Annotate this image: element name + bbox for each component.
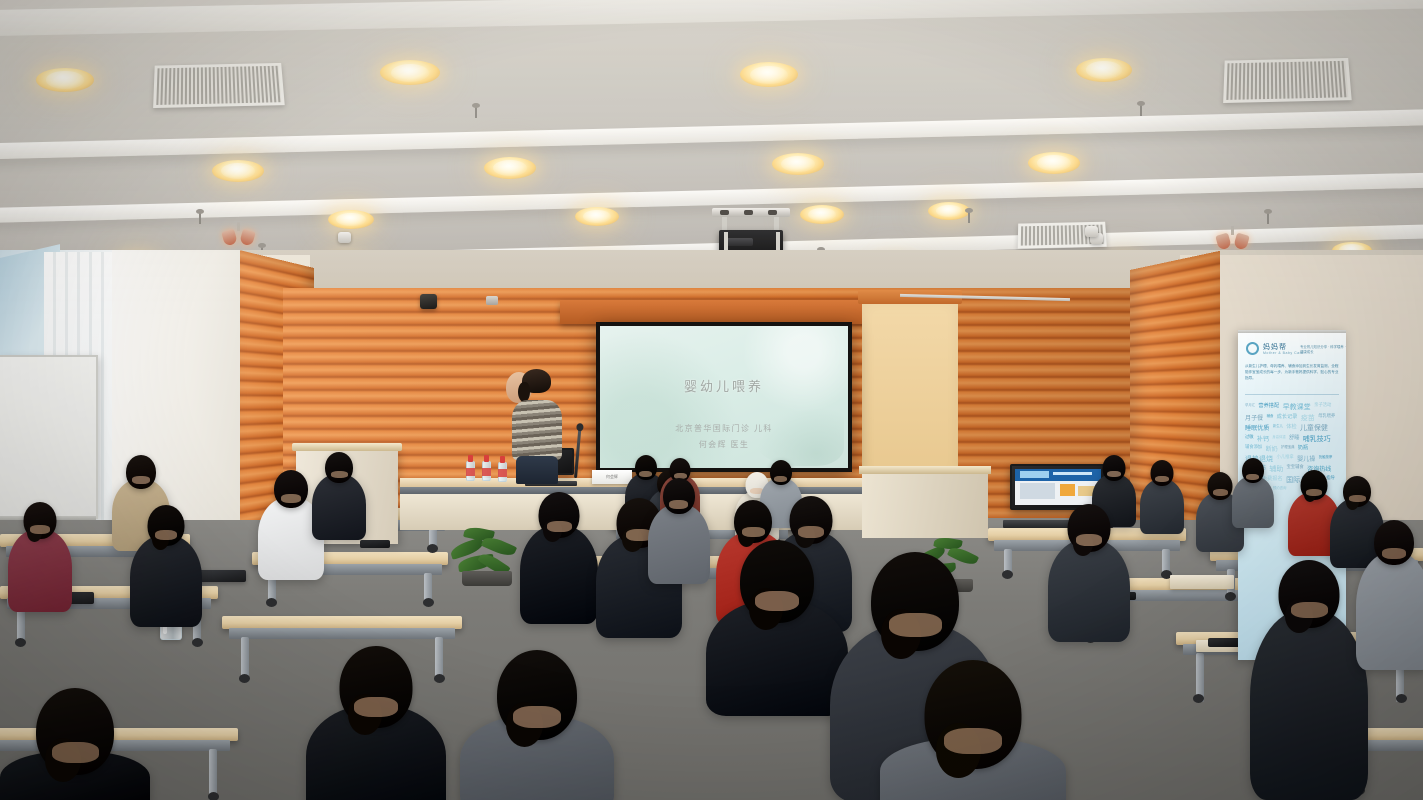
slide-title: 婴幼儿喂养 — [600, 376, 848, 395]
banner-word: 补钙 — [1257, 434, 1269, 443]
person-neck — [155, 530, 177, 540]
banner-word: 舒睡 — [1289, 434, 1299, 441]
desk-caster — [1002, 570, 1013, 579]
desk-caster — [266, 598, 277, 607]
rolled-blind-panel — [862, 300, 958, 478]
screen-valance — [560, 300, 890, 324]
downlight-icon — [1076, 58, 1132, 82]
notebook[interactable] — [1170, 575, 1234, 589]
person-neck — [132, 476, 150, 484]
presenter-torso — [512, 400, 562, 460]
banner-top-bar — [1238, 330, 1346, 333]
presenter-skirt — [516, 456, 558, 484]
person-neck — [774, 476, 787, 482]
audience-member — [1356, 520, 1423, 670]
banner-word: 预约咨询 — [1273, 485, 1287, 490]
person-body — [648, 504, 710, 584]
person-neck — [354, 697, 398, 717]
person-neck — [1246, 474, 1259, 480]
projector-mount-plate — [712, 208, 790, 217]
audience-member — [1048, 504, 1130, 642]
person-neck — [281, 494, 301, 503]
person-body — [1048, 539, 1130, 642]
whiteboard[interactable] — [0, 355, 98, 519]
banner-word: 早教课堂 — [1283, 402, 1311, 412]
banner-word: 过敏 — [1245, 434, 1254, 440]
person-neck — [889, 613, 942, 637]
downlight-icon — [1028, 152, 1080, 174]
presenter — [506, 372, 568, 482]
side-table-right — [862, 472, 988, 538]
air-vent-icon — [1223, 58, 1352, 103]
desk-modesty-panel — [229, 628, 455, 639]
projection-screen-surface: 婴幼儿喂养 北京普华国际门诊 儿科 何会辉 医生 — [600, 326, 848, 468]
person-body — [8, 529, 72, 612]
track-spotlight-icon — [222, 222, 256, 246]
downlight-icon — [380, 60, 440, 85]
water-bottle[interactable] — [466, 455, 475, 481]
banner-word: 身高体重 — [1272, 434, 1286, 439]
banner-word: 婴儿操 — [1297, 454, 1315, 463]
ceiling-camera-icon — [1085, 226, 1098, 237]
person-neck — [52, 742, 99, 763]
banner-word: 小儿推拿 — [1277, 454, 1294, 460]
person-neck — [30, 525, 50, 534]
person-neck — [1349, 495, 1366, 502]
banner-tagline: 专业育儿知识分享 · 科学喂养 · 健康成长 — [1300, 344, 1346, 354]
banner-word: 儿童保健 — [1300, 423, 1328, 433]
person-neck — [331, 471, 348, 478]
downlight-icon — [36, 68, 94, 92]
ceiling-camera-icon — [486, 296, 498, 305]
audience-member — [460, 650, 614, 800]
presenter-ponytail — [518, 382, 530, 402]
banner-word: 疫苗 — [1301, 413, 1315, 423]
person-neck — [1107, 471, 1121, 477]
audience-member — [706, 540, 848, 716]
desk-caster — [15, 638, 26, 647]
audience-member — [130, 505, 202, 627]
track-spotlight-icon — [1216, 226, 1250, 250]
desk-caster — [208, 792, 219, 800]
audience-member — [8, 502, 72, 612]
air-vent-icon — [153, 63, 285, 108]
desk-caster — [1225, 592, 1236, 601]
banner-word: 营养搭配 — [1258, 402, 1279, 409]
desk-caster — [423, 598, 434, 607]
person-neck — [755, 591, 799, 611]
slide-decoration — [752, 404, 844, 466]
person-neck — [742, 527, 765, 537]
banner-word: 断奶 — [1266, 444, 1278, 453]
person-neck — [669, 500, 688, 509]
water-bottle[interactable] — [482, 455, 491, 481]
person-neck — [1213, 489, 1228, 496]
person-neck — [1076, 534, 1102, 546]
downlight-icon — [772, 153, 824, 175]
person-body — [1140, 479, 1184, 534]
audience-member — [1232, 458, 1274, 528]
audience-member — [312, 452, 366, 540]
banner-word: 睡眠优质 — [1245, 423, 1269, 432]
banner-word: 辅食 — [1267, 413, 1274, 418]
desk-caster — [239, 674, 250, 683]
sprinkler-icon — [1137, 104, 1145, 116]
banner-word: 哺乳技巧 — [1303, 434, 1331, 444]
downlight-icon — [575, 207, 619, 226]
audience-member — [1140, 460, 1184, 534]
banner-word: 月子餐 — [1245, 413, 1263, 422]
lectern-top — [292, 443, 402, 451]
desk-caster — [192, 638, 203, 647]
side-table-top — [859, 466, 991, 474]
banner-word: 成长记录 — [1277, 413, 1298, 420]
desk-caster — [427, 544, 438, 553]
banner-word: 孕月汇 — [1245, 402, 1255, 407]
audience-member — [880, 660, 1066, 800]
person-neck — [1155, 476, 1169, 482]
person-body — [520, 525, 598, 624]
downlight-icon — [800, 205, 844, 224]
downlight-icon — [928, 202, 970, 220]
banner-word: 护理宝典 — [1281, 444, 1295, 449]
banner-divider — [1245, 394, 1339, 395]
downlight-icon — [740, 62, 798, 87]
phone[interactable] — [360, 540, 390, 548]
banner-word: 体检 — [1286, 423, 1296, 430]
desk-caster — [1396, 694, 1407, 703]
person-neck — [513, 706, 561, 728]
person-neck — [944, 728, 1002, 754]
person-body — [312, 474, 366, 540]
downlight-icon — [484, 157, 536, 179]
banner-brand-sub: Mother & Baby Care — [1263, 351, 1304, 355]
audience-member — [1250, 560, 1368, 800]
banner-word: 辅食添加 — [1245, 444, 1262, 450]
person-body — [1250, 609, 1368, 800]
person-body — [1356, 552, 1423, 670]
audience-member — [306, 646, 446, 800]
wall-speaker-icon — [420, 294, 437, 309]
laptop-screen-content — [1015, 469, 1101, 505]
banner-word: 亲子活动 — [1314, 402, 1331, 408]
person-body — [1232, 476, 1274, 528]
audience-member — [0, 688, 150, 800]
banner-paragraph: 从新生儿护理、母乳喂养、辅食添加到生长发育监测，全程陪伴宝宝成长的每一步，为新手… — [1245, 363, 1339, 381]
person-neck — [1382, 548, 1406, 559]
sprinkler-icon — [196, 212, 204, 224]
person-neck — [1306, 489, 1322, 496]
slide-subtitle-1: 北京普华国际门诊 儿科 — [600, 423, 848, 434]
person-head — [1103, 455, 1126, 481]
downlight-icon — [212, 160, 264, 182]
banner-word: 奶瓶 — [1298, 444, 1308, 451]
person-head — [1151, 460, 1174, 486]
banner-word: 母乳喂养 — [1318, 413, 1335, 419]
downlight-icon — [328, 210, 374, 229]
sprinkler-icon — [965, 211, 973, 223]
potted-plant — [448, 520, 526, 586]
audience-member — [648, 478, 710, 584]
audience-member — [520, 492, 598, 624]
banner-logo-icon — [1246, 342, 1259, 355]
person-neck — [1291, 602, 1328, 618]
sprinkler-icon — [472, 106, 480, 118]
classroom-photo-scene: 婴幼儿喂养 北京普华国际门诊 儿科 何会辉 医生 何会辉 — [0, 0, 1423, 800]
person-body — [130, 535, 202, 627]
banner-word: 新生儿 — [1273, 423, 1283, 428]
person-neck — [547, 521, 572, 532]
person-head — [325, 452, 353, 483]
slide-subtitle-2: 何会辉 医生 — [600, 439, 848, 450]
sprinkler-icon — [1264, 212, 1272, 224]
ceiling-camera-icon — [338, 232, 351, 243]
projection-screen: 婴幼儿喂养 北京普华国际门诊 儿科 何会辉 医生 — [596, 322, 852, 472]
person-neck — [798, 526, 824, 538]
banner-word: 抚触按摩 — [1319, 454, 1333, 459]
